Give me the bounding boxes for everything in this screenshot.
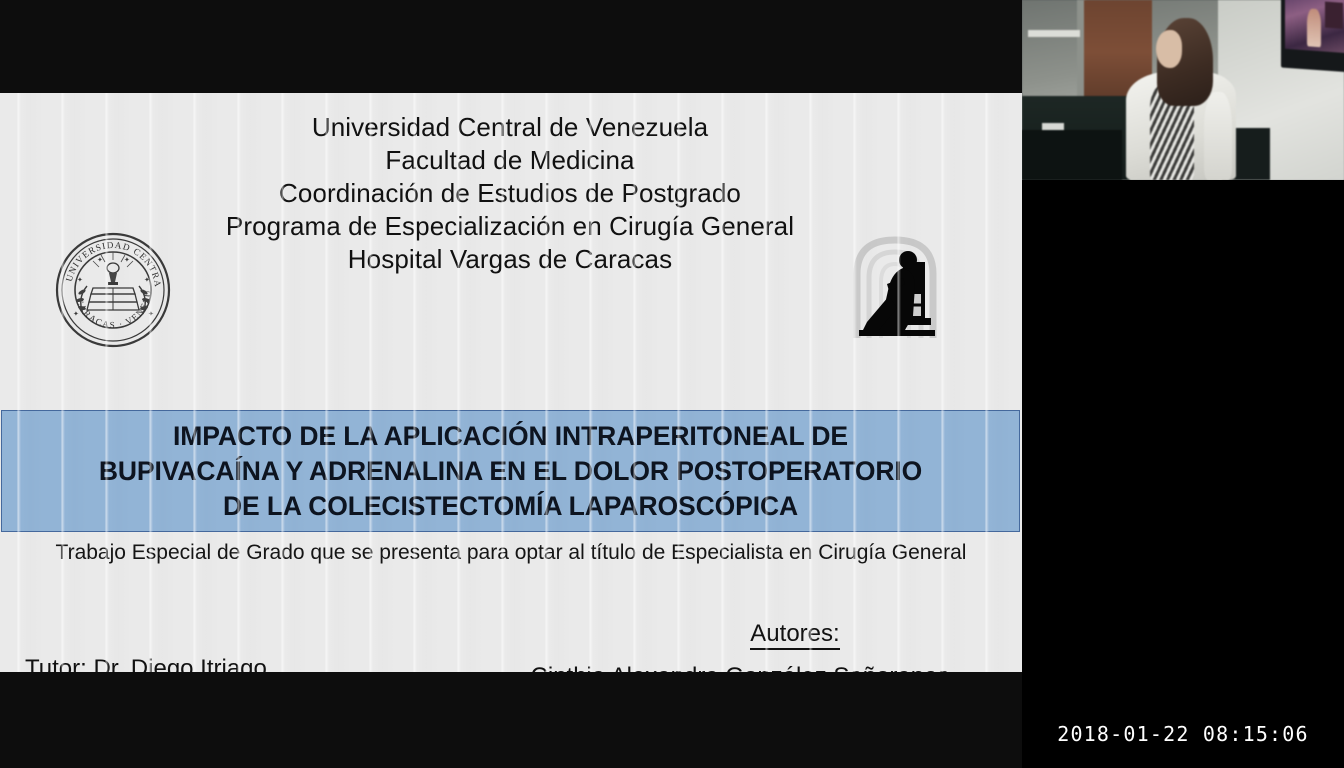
presenter-face <box>1156 30 1182 68</box>
institution-line-1: Universidad Central de Venezuela <box>0 111 1020 144</box>
author-name-1: Cinthia Alexandra González Señoranes <box>460 663 1020 672</box>
title-line-2: BUPIVACAÍNA Y ADRENALINA EN EL DOLOR POS… <box>99 456 922 486</box>
slide-header: UNIVERSIDAD CENTRAL CARACAS · VENEZUELA <box>0 93 1022 318</box>
svg-text:✦: ✦ <box>77 276 83 284</box>
title-line-3: DE LA COLECISTECTOMÍA LAPAROSCÓPICA <box>223 491 798 521</box>
svg-text:✦: ✦ <box>144 276 150 284</box>
tutor-name: Dr. Diego Itriago. <box>87 655 274 672</box>
wall-mounted-monitor <box>1281 0 1344 73</box>
authors-heading: Autores: <box>640 620 950 648</box>
desk-label-sticker <box>1042 123 1064 130</box>
tutor-line: Tutor: Dr. Diego Itriago. <box>25 655 274 672</box>
presenter-arm <box>1204 92 1232 180</box>
desk-front-panel <box>1022 130 1122 180</box>
presenter-video-feed <box>1022 0 1344 180</box>
monitor-screen-figure-2 <box>1325 2 1343 29</box>
recording-canvas: UNIVERSIDAD CENTRAL CARACAS · VENEZUELA <box>0 0 1344 768</box>
recording-timestamp: 2018-01-22 08:15:06 <box>1022 722 1344 746</box>
slide-subtitle: Trabajo Especial de Grado que se present… <box>0 541 1022 565</box>
slide-title-banner: IMPACTO DE LA APLICACIÓN INTRAPERITONEAL… <box>1 410 1020 532</box>
presentation-slide: UNIVERSIDAD CENTRAL CARACAS · VENEZUELA <box>0 93 1022 672</box>
monitor-screen <box>1285 0 1344 53</box>
wall-shelf <box>1028 30 1080 37</box>
slide-title-text: IMPACTO DE LA APLICACIÓN INTRAPERITONEAL… <box>2 419 1019 524</box>
webcam-panel: 2018-01-22 08:15:06 <box>1022 0 1344 768</box>
screen-share-region: UNIVERSIDAD CENTRAL CARACAS · VENEZUELA <box>0 93 1022 672</box>
tutor-label: Tutor: <box>25 655 87 672</box>
svg-text:✦: ✦ <box>73 310 79 318</box>
title-line-1: IMPACTO DE LA APLICACIÓN INTRAPERITONEAL… <box>173 421 848 451</box>
monitor-screen-figure <box>1307 8 1321 47</box>
institution-line-2: Facultad de Medicina <box>0 144 1020 177</box>
institution-line-3: Coordinación de Estudios de Postgrado <box>0 177 1020 210</box>
svg-text:✦: ✦ <box>148 310 154 318</box>
seated-reader-arch-logo-icon <box>845 226 945 341</box>
authors-heading-text: Autores: <box>750 620 839 650</box>
